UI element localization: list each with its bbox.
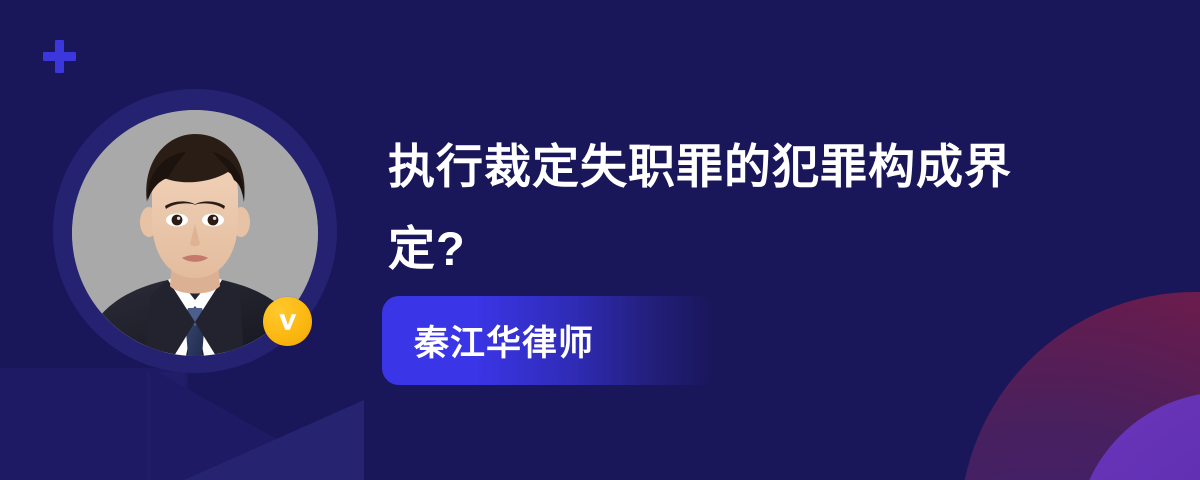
verified-v-icon (263, 297, 312, 346)
page-title: 执行裁定失职罪的犯罪构成界定? (388, 126, 1078, 290)
decorative-bar-left (147, 372, 185, 480)
decorative-blob-purple (1076, 392, 1200, 480)
decorative-blob-magenta (960, 292, 1200, 480)
decorative-band-left (0, 368, 188, 480)
content-column: 执行裁定失职罪的犯罪构成界定? (388, 126, 1148, 290)
author-name: 秦江华律师 (382, 315, 594, 366)
author-badge[interactable]: 秦江华律师 (382, 296, 716, 385)
decorative-wedge-left-lower (184, 400, 364, 480)
plus-icon (43, 40, 76, 73)
lawyer-question-card: 执行裁定失职罪的犯罪构成界定? 秦江华律师 (0, 0, 1200, 480)
avatar[interactable] (53, 89, 337, 373)
